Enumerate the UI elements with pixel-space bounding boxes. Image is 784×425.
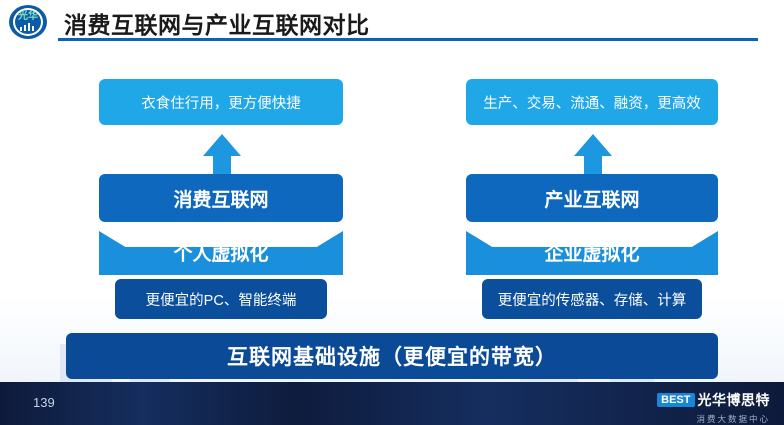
right-outcome-label: 生产、交易、流通、融资，更高效 [483, 92, 701, 113]
title-underline [58, 38, 758, 41]
foundation-box: 互联网基础设施（更便宜的带宽） [66, 333, 718, 379]
right-chevron-band: 企业虚拟化 [466, 231, 718, 275]
left-outcome-label: 衣食住行用，更方便快捷 [141, 92, 301, 113]
slide-header: 光华 消费互联网与产业互联网对比 [0, 0, 784, 46]
left-chevron-label: 个人虚拟化 [99, 239, 343, 266]
right-layer-box: 产业互联网 [466, 174, 718, 222]
left-layer-label: 消费互联网 [173, 185, 268, 212]
brand-mark-icon: BEST [657, 393, 694, 407]
brand-logo: BEST 光华博思特 消费大数据中心 [657, 390, 770, 425]
right-enabler-label: 更便宜的传感器、存储、计算 [498, 289, 687, 310]
slide: 光华 消费互联网与产业互联网对比 衣食住行用，更方便快捷 消费互联网 个人 [0, 0, 784, 425]
brand-name: 光华博思特 [698, 390, 771, 410]
left-chevron-band: 个人虚拟化 [99, 231, 343, 275]
left-enabler-box: 更便宜的PC、智能终端 [115, 279, 327, 319]
left-enabler-label: 更便宜的PC、智能终端 [146, 289, 297, 310]
company-emblem-icon: 光华 [9, 5, 53, 39]
left-layer-box: 消费互联网 [99, 174, 343, 222]
brand-subtitle: 消费大数据中心 [657, 413, 770, 425]
diagram-area: 衣食住行用，更方便快捷 消费互联网 个人虚拟化 更便宜的PC、智能终端 生产、交… [0, 46, 784, 382]
right-layer-label: 产业互联网 [544, 185, 639, 212]
foundation-label: 互联网基础设施（更便宜的带宽） [227, 341, 557, 371]
page-title: 消费互联网与产业互联网对比 [64, 6, 370, 40]
right-outcome-box: 生产、交易、流通、融资，更高效 [466, 79, 718, 125]
page-number: 139 [33, 395, 55, 410]
right-enabler-box: 更便宜的传感器、存储、计算 [482, 279, 702, 319]
slide-footer: 139 BEST 光华博思特 消费大数据中心 [0, 382, 784, 425]
left-outcome-box: 衣食住行用，更方便快捷 [99, 79, 343, 125]
right-chevron-label: 企业虚拟化 [466, 239, 718, 266]
